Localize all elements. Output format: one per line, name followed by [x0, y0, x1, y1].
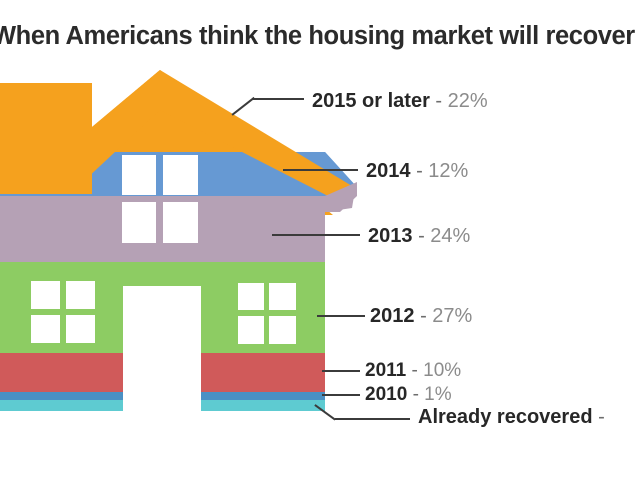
- label-2012-dash: -: [420, 305, 427, 327]
- label-2012: 2012 - 27%: [370, 305, 472, 328]
- label-2012-pct: 27%: [432, 305, 472, 327]
- infographic-canvas: When Americans think the housing market …: [0, 0, 640, 480]
- footer-bar: ulia® RealtyTrac® Data from a study cond…: [0, 425, 640, 480]
- label-2015-dash: -: [435, 90, 442, 112]
- label-2014-pct: 12%: [428, 160, 468, 182]
- label-2013: 2013 - 24%: [368, 225, 470, 248]
- label-2014: 2014 - 12%: [366, 160, 468, 183]
- leader-line-2011: [322, 370, 360, 372]
- leader-line-2013: [272, 234, 360, 236]
- label-2011-pct: 10%: [423, 360, 461, 381]
- label-2014-dash: -: [416, 160, 423, 182]
- label-2010-year: 2010: [365, 384, 407, 405]
- leader-line-2014: [283, 169, 358, 171]
- label-2015-pct: 22%: [448, 90, 488, 112]
- leader-line-2012: [317, 315, 365, 317]
- label-2010-pct: 1%: [424, 384, 451, 405]
- label-2015-year: 2015 or later: [312, 90, 430, 112]
- house-chart-graphic: [0, 0, 380, 420]
- label-2011: 2011 - 10%: [365, 360, 461, 382]
- leader-line-already-recovered-flat: [335, 418, 410, 420]
- label-2010-dash: -: [413, 384, 419, 405]
- label-2012-year: 2012: [370, 305, 415, 327]
- label-2010: 2010 - 1%: [365, 384, 452, 406]
- label-2013-year: 2013: [368, 225, 413, 247]
- chimney: [0, 83, 92, 194]
- label-2015-or-later: 2015 or later - 22%: [312, 90, 488, 113]
- leader-line-2015-flat: [252, 98, 304, 100]
- label-2011-year: 2011: [365, 360, 406, 381]
- label-2013-pct: 24%: [430, 225, 470, 247]
- leader-line-2010: [322, 394, 360, 396]
- label-2014-year: 2014: [366, 160, 411, 182]
- label-2011-dash: -: [412, 360, 418, 381]
- label-2013-dash: -: [418, 225, 425, 247]
- front-door: [123, 286, 201, 411]
